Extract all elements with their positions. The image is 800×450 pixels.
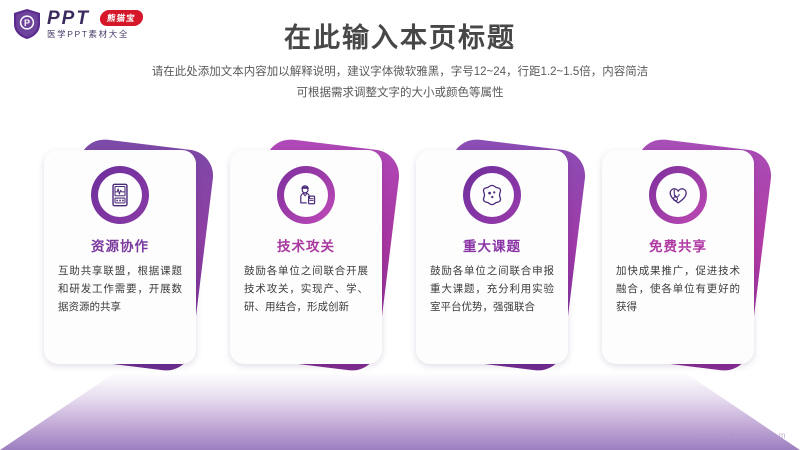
page-subtitle-line-1: 请在此处添加文本内容加以解释说明，建议字体微软雅黑，字号12~24，行距1.2~… (0, 62, 800, 83)
card-slot-4[interactable]: 免费共享 加快成果推广，促进技术融合，使各单位有更好的获得 (596, 140, 786, 375)
icon-ring (277, 166, 335, 224)
stage-trapezoid (0, 372, 800, 450)
card-slot-3[interactable]: 重大课题 鼓励各单位之间联合申报重大课题，充分利用实验室平台优势，强强联合 (410, 140, 600, 375)
cell-virus-icon (479, 182, 505, 208)
icon-ring (649, 166, 707, 224)
feature-card-4[interactable]: 免费共享 加快成果推广，促进技术融合，使各单位有更好的获得 (602, 150, 754, 364)
card-row: 资源协作 互助共享联盟，根据课题和研发工作需要，开展数据资源的共享 技术攻关 (0, 140, 800, 375)
feature-card-2[interactable]: 技术攻关 鼓励各单位之间联合开展技术攻关，实现产、学、研、用结合，形成创新 (230, 150, 382, 364)
ecg-monitor-icon (107, 182, 133, 208)
card-description: 加快成果推广，促进技术融合，使各单位有更好的获得 (616, 262, 740, 316)
page-subtitle: 请在此处添加文本内容加以解释说明，建议字体微软雅黑，字号12~24，行距1.2~… (0, 62, 800, 105)
card-title: 技术攻关 (277, 235, 335, 255)
card-title: 重大课题 (463, 235, 521, 255)
page-title: 在此输入本页标题 (0, 16, 800, 55)
card-description: 互助共享联盟，根据课题和研发工作需要，开展数据资源的共享 (58, 262, 182, 316)
card-description: 鼓励各单位之间联合开展技术攻关，实现产、学、研、用结合，形成创新 (244, 262, 368, 316)
feature-card-3[interactable]: 重大课题 鼓励各单位之间联合申报重大课题，充分利用实验室平台优势，强强联合 (416, 150, 568, 364)
page-subtitle-line-2: 可根据需求调整文字的大小或颜色等属性 (0, 83, 800, 104)
icon-ring (91, 166, 149, 224)
heart-stethoscope-icon (665, 182, 691, 208)
card-slot-2[interactable]: 技术攻关 鼓励各单位之间联合开展技术攻关，实现产、学、研、用结合，形成创新 (224, 140, 414, 375)
footer-watermark: www.pptbz.com (698, 431, 788, 440)
feature-card-1[interactable]: 资源协作 互助共享联盟，根据课题和研发工作需要，开展数据资源的共享 (44, 150, 196, 364)
doctor-clipboard-icon (293, 182, 319, 208)
card-title: 资源协作 (91, 235, 149, 255)
stage-floor: www.pptbz.com (0, 372, 800, 450)
card-slot-1[interactable]: 资源协作 互助共享联盟，根据课题和研发工作需要，开展数据资源的共享 (38, 140, 228, 375)
icon-ring (463, 166, 521, 224)
card-description: 鼓励各单位之间联合申报重大课题，充分利用实验室平台优势，强强联合 (430, 262, 554, 316)
card-title: 免费共享 (649, 235, 707, 255)
